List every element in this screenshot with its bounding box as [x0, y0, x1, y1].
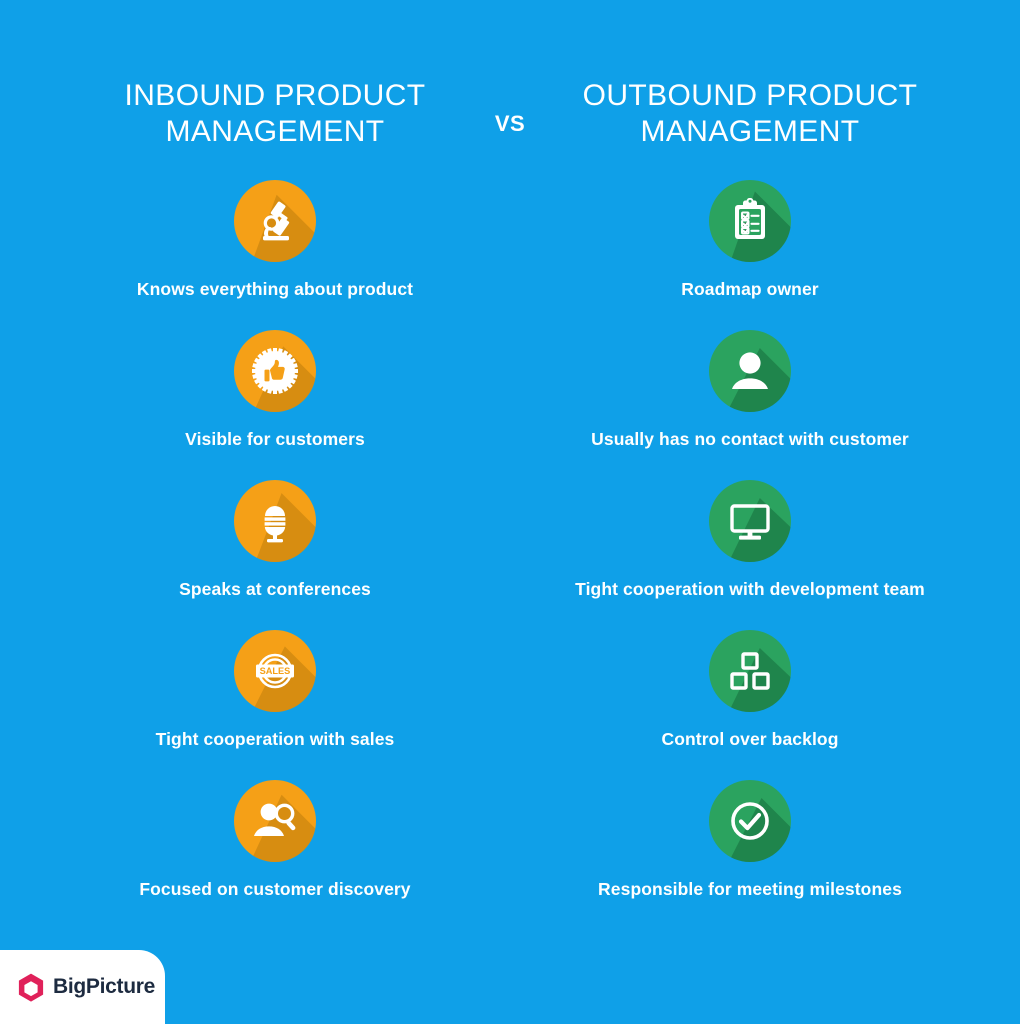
icon-glyph: SALES [234, 630, 316, 712]
clipboard-checklist-icon [709, 180, 791, 262]
blocks-stack-icon [709, 630, 791, 712]
comparison-row: SALES Tight cooperation with sales Contr… [0, 630, 1020, 780]
vs-separator-label: VS [465, 111, 555, 137]
comparison-row: Knows everything about product [0, 180, 1020, 330]
icon-glyph [234, 180, 316, 262]
desktop-monitor-icon [709, 480, 791, 562]
comparison-row: Focused on customer discovery Responsibl… [0, 780, 1020, 930]
inbound-item: Knows everything about product [45, 180, 505, 300]
infographic-header: INBOUND PRODUCT MANAGEMENT VS OUTBOUND P… [0, 78, 1020, 158]
item-label: Tight cooperation with development team [520, 578, 980, 600]
item-label: Responsible for meeting milestones [520, 878, 980, 900]
item-label: Speaks at conferences [45, 578, 505, 600]
bigpicture-hexagon-icon [18, 973, 44, 1002]
comparison-row: Visible for customers Usually has no con… [0, 330, 1020, 480]
inbound-item: Focused on customer discovery [45, 780, 505, 900]
inbound-item: Speaks at conferences [45, 480, 505, 600]
icon-glyph [709, 330, 791, 412]
item-label: Control over backlog [520, 728, 980, 750]
check-circle-icon [709, 780, 791, 862]
sales-stamp-icon: SALES [234, 630, 316, 712]
item-label: Tight cooperation with sales [45, 728, 505, 750]
microscope-icon [234, 180, 316, 262]
bigpicture-logo[interactable]: BigPicture [0, 950, 165, 1024]
outbound-column-title: OUTBOUND PRODUCT MANAGEMENT [560, 78, 940, 150]
thumbs-up-badge-icon [234, 330, 316, 412]
item-label: Focused on customer discovery [45, 878, 505, 900]
icon-glyph [709, 180, 791, 262]
icon-glyph [234, 480, 316, 562]
item-label: Visible for customers [45, 428, 505, 450]
bigpicture-wordmark: BigPicture [53, 975, 155, 999]
icon-glyph [234, 330, 316, 412]
outbound-item: Tight cooperation with development team [520, 480, 980, 600]
outbound-item: Roadmap owner [520, 180, 980, 300]
icon-glyph [709, 630, 791, 712]
inbound-item: Visible for customers [45, 330, 505, 450]
item-label: Knows everything about product [45, 278, 505, 300]
person-avatar-icon [709, 330, 791, 412]
sales-stamp-text: SALES [260, 666, 291, 676]
icon-glyph [234, 780, 316, 862]
outbound-item: Usually has no contact with customer [520, 330, 980, 450]
item-label: Roadmap owner [520, 278, 980, 300]
comparison-rows: Knows everything about product [0, 180, 1020, 930]
item-label: Usually has no contact with customer [520, 428, 980, 450]
microphone-icon [234, 480, 316, 562]
icon-glyph [709, 480, 791, 562]
inbound-column-title: INBOUND PRODUCT MANAGEMENT [85, 78, 465, 150]
icon-glyph [709, 780, 791, 862]
outbound-item: Control over backlog [520, 630, 980, 750]
comparison-row: Speaks at conferences Tight cooperation … [0, 480, 1020, 630]
inbound-item: SALES Tight cooperation with sales [45, 630, 505, 750]
outbound-item: Responsible for meeting milestones [520, 780, 980, 900]
person-search-icon [234, 780, 316, 862]
